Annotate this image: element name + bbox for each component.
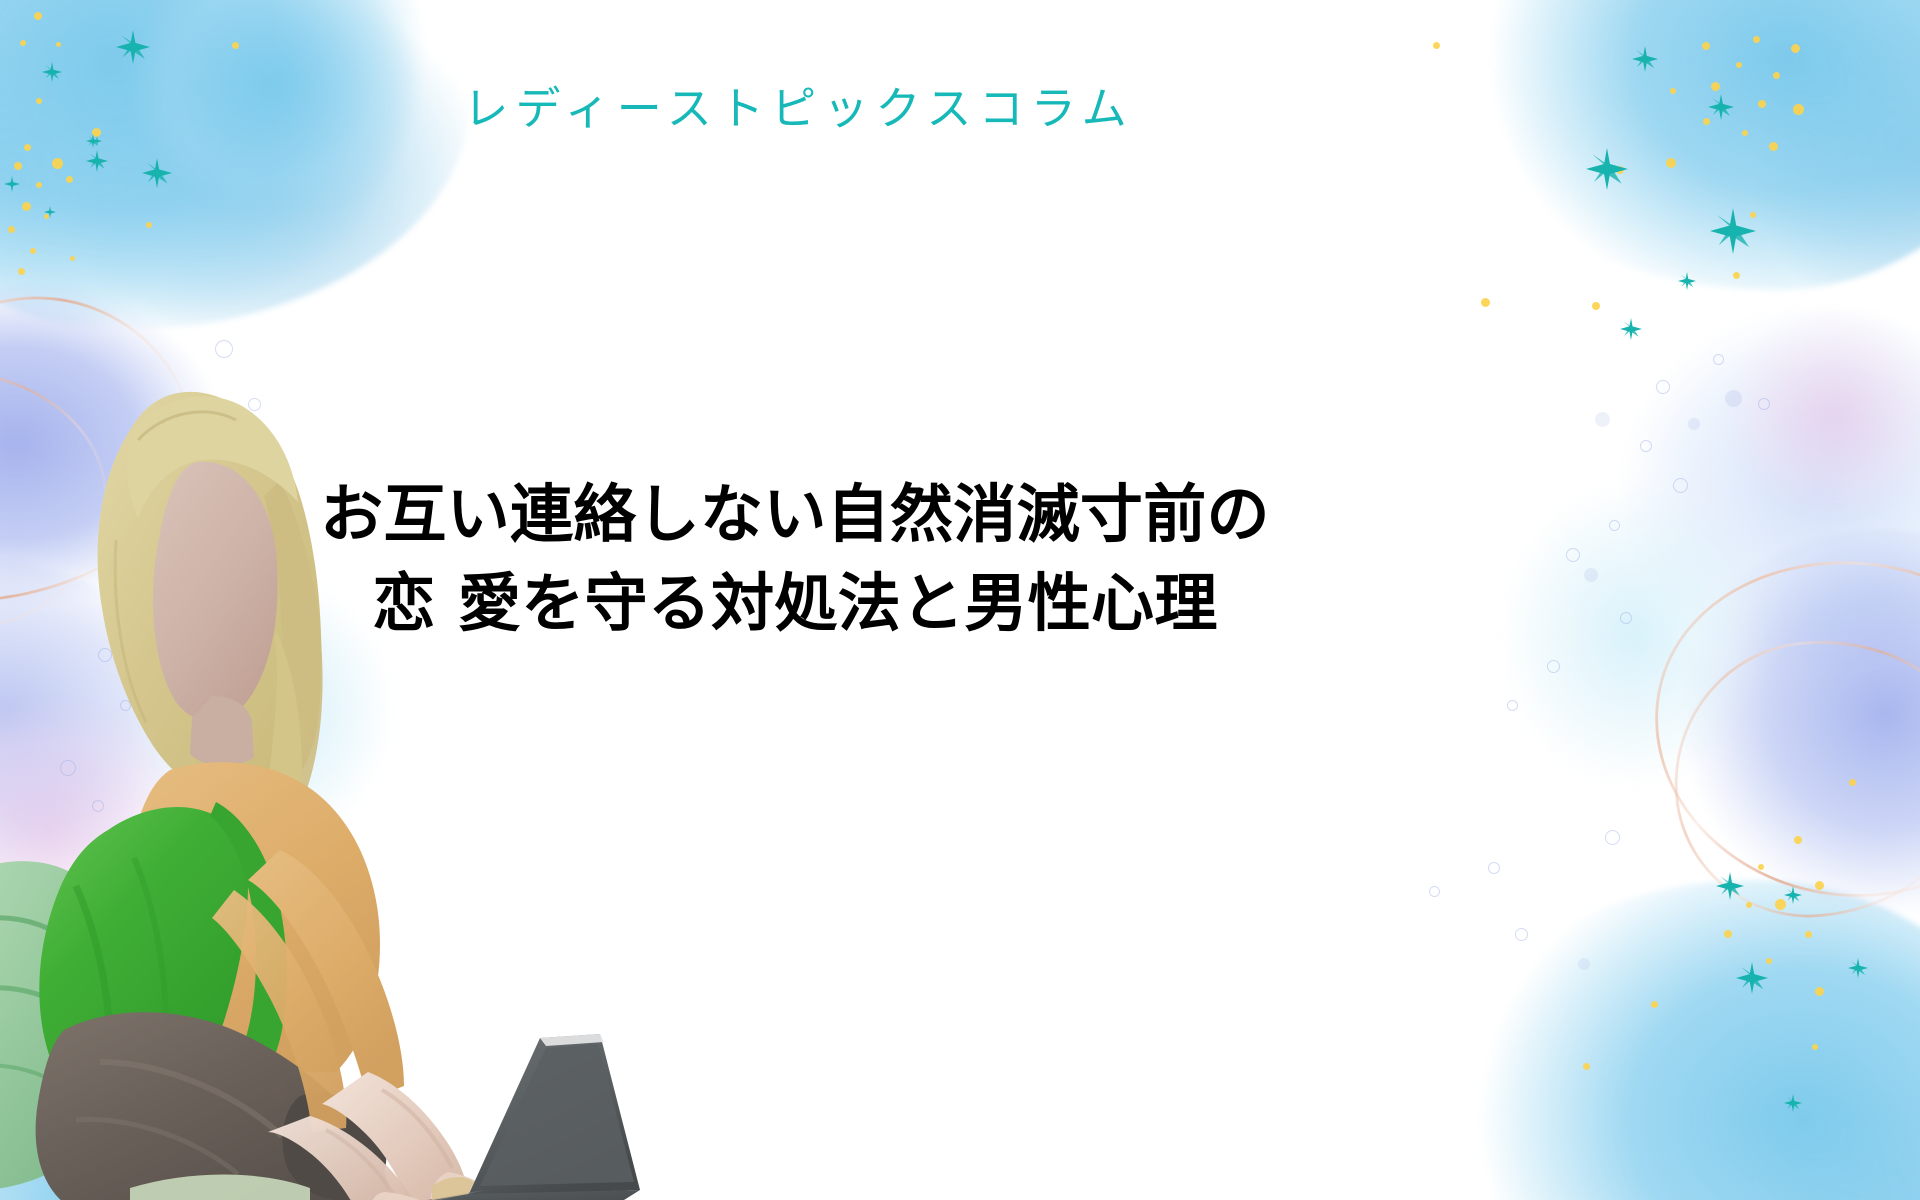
glitter-dot: [66, 176, 73, 183]
glitter-dot: [1750, 212, 1756, 218]
bubble-ring: [1640, 440, 1652, 452]
glitter-dot: [30, 248, 36, 254]
glitter-dot: [14, 162, 22, 170]
sparkle-star-icon: [1620, 318, 1642, 340]
watercolor-wash-top-right: [1440, 0, 1920, 290]
glitter-dot: [1753, 36, 1760, 43]
glitter-dot: [1592, 302, 1600, 310]
ink-blob-right-lower: [1650, 530, 1920, 930]
sparkle-star-icon: [1710, 208, 1756, 254]
glitter-dot: [1742, 130, 1748, 136]
thumbnail-canvas: レディーストピックスコラム お互い連絡しない自然消滅寸前の 恋 愛を守る対処法と…: [0, 0, 1920, 1200]
glitter-dot: [56, 42, 61, 47]
glitter-dot: [92, 128, 101, 137]
bubble-dot: [1725, 390, 1742, 407]
sparkle-star-icon: [1848, 958, 1868, 978]
glitter-dot: [34, 12, 42, 20]
glitter-outline-right-2: [1663, 627, 1920, 929]
glitter-dot: [1711, 82, 1720, 91]
bubble-dot: [1595, 412, 1610, 427]
kicker-container: レディーストピックスコラム: [150, 72, 1440, 137]
kicker-text: レディーストピックスコラム: [150, 72, 1440, 137]
glitter-dot: [1702, 42, 1710, 50]
glitter-dot: [1670, 88, 1676, 94]
hero-illustration: [0, 330, 700, 1200]
glitter-outline-right-1: [1623, 524, 1920, 933]
sparkle-star-icon: [92, 136, 102, 146]
ink-blob-right-pink: [1710, 300, 1920, 530]
page-title: お互い連絡しない自然消滅寸前の 恋 愛を守る対処法と男性心理: [150, 470, 1440, 649]
glitter-dot: [1651, 1001, 1658, 1008]
glitter-dot: [232, 42, 239, 49]
bubble-dot: [1688, 418, 1700, 430]
sparkle-star-icon: [1784, 1094, 1802, 1112]
sparkle-star-icon: [42, 62, 62, 82]
glitter-dot: [1758, 864, 1764, 870]
sparkle-star-icon: [142, 158, 172, 188]
glitter-dot: [1793, 104, 1804, 115]
glitter-dot: [1736, 62, 1742, 68]
glitter-dot: [1815, 881, 1824, 890]
sparkle-star-icon: [1784, 886, 1802, 904]
glitter-dot: [1583, 1063, 1590, 1070]
glitter-dot: [1769, 142, 1778, 151]
glitter-dot: [1794, 836, 1802, 844]
sparkle-star-icon: [1708, 94, 1734, 120]
sparkle-star-icon: [86, 134, 100, 148]
sparkle-star-icon: [1632, 46, 1658, 72]
glitter-dot: [20, 40, 26, 46]
glitter-dot: [1812, 1044, 1818, 1050]
glitter-dot: [1481, 298, 1490, 307]
title-line-2: 恋 愛を守る対処法と男性心理: [150, 559, 1440, 648]
glitter-dot: [18, 268, 25, 275]
watercolor-wash-top-left: [0, 0, 470, 330]
sparkle-star-icon: [1736, 962, 1768, 994]
glitter-dot: [1849, 779, 1856, 786]
bubble-ring: [1515, 928, 1528, 941]
bubble-dot: [1584, 568, 1598, 582]
bubble-dot: [1578, 958, 1590, 970]
bubble-ring: [1656, 380, 1670, 394]
bubble-ring: [1605, 830, 1620, 845]
bubble-ring: [1566, 548, 1580, 562]
glitter-dot: [22, 202, 31, 211]
bubble-ring: [1713, 354, 1724, 365]
glitter-dot: [1805, 931, 1812, 938]
bubble-ring: [1488, 862, 1500, 874]
glitter-dot: [1433, 42, 1440, 49]
bubble-ring: [1673, 478, 1688, 493]
glitter-dot: [1758, 100, 1766, 108]
bubble-ring: [1609, 520, 1620, 531]
bubble-ring: [1758, 398, 1770, 410]
glitter-dot: [146, 222, 152, 228]
glitter-dot: [1666, 158, 1676, 168]
bubble-ring: [1507, 700, 1518, 711]
glitter-dot: [1724, 930, 1732, 938]
glitter-dot: [1775, 899, 1786, 910]
glitter-dot: [1616, 166, 1624, 174]
glitter-dot: [52, 158, 63, 169]
sparkle-star-icon: [116, 30, 150, 64]
sparkle-star-icon: [1678, 272, 1696, 290]
ink-blob-right-cyan: [1490, 470, 1790, 800]
glitter-dot: [8, 226, 15, 233]
glitter-dot: [44, 214, 49, 219]
glitter-dot: [36, 98, 42, 104]
glitter-dot: [1815, 987, 1824, 996]
sparkle-star-icon: [4, 176, 20, 192]
glitter-dot: [1733, 272, 1740, 279]
bubble-ring: [1429, 886, 1440, 897]
sparkle-star-icon: [1716, 872, 1744, 900]
sparkle-star-icon: [86, 150, 108, 172]
glitter-dot: [36, 182, 42, 188]
watercolor-wash-bottom-right: [1430, 880, 1920, 1200]
glitter-dot: [70, 256, 75, 261]
ink-blob-right-upper: [1590, 300, 1920, 680]
glitter-dot: [1746, 902, 1752, 908]
glitter-dot: [1773, 72, 1780, 79]
title-line-1: お互い連絡しない自然消滅寸前の: [150, 470, 1440, 559]
glitter-dot: [24, 144, 31, 151]
bubble-ring: [1620, 612, 1632, 624]
sparkle-star-icon: [1586, 148, 1628, 190]
glitter-dot: [1766, 958, 1772, 964]
glitter-dot: [1703, 118, 1710, 125]
sparkle-star-icon: [44, 206, 56, 218]
bubble-ring: [1547, 660, 1560, 673]
glitter-dot: [1791, 44, 1800, 53]
